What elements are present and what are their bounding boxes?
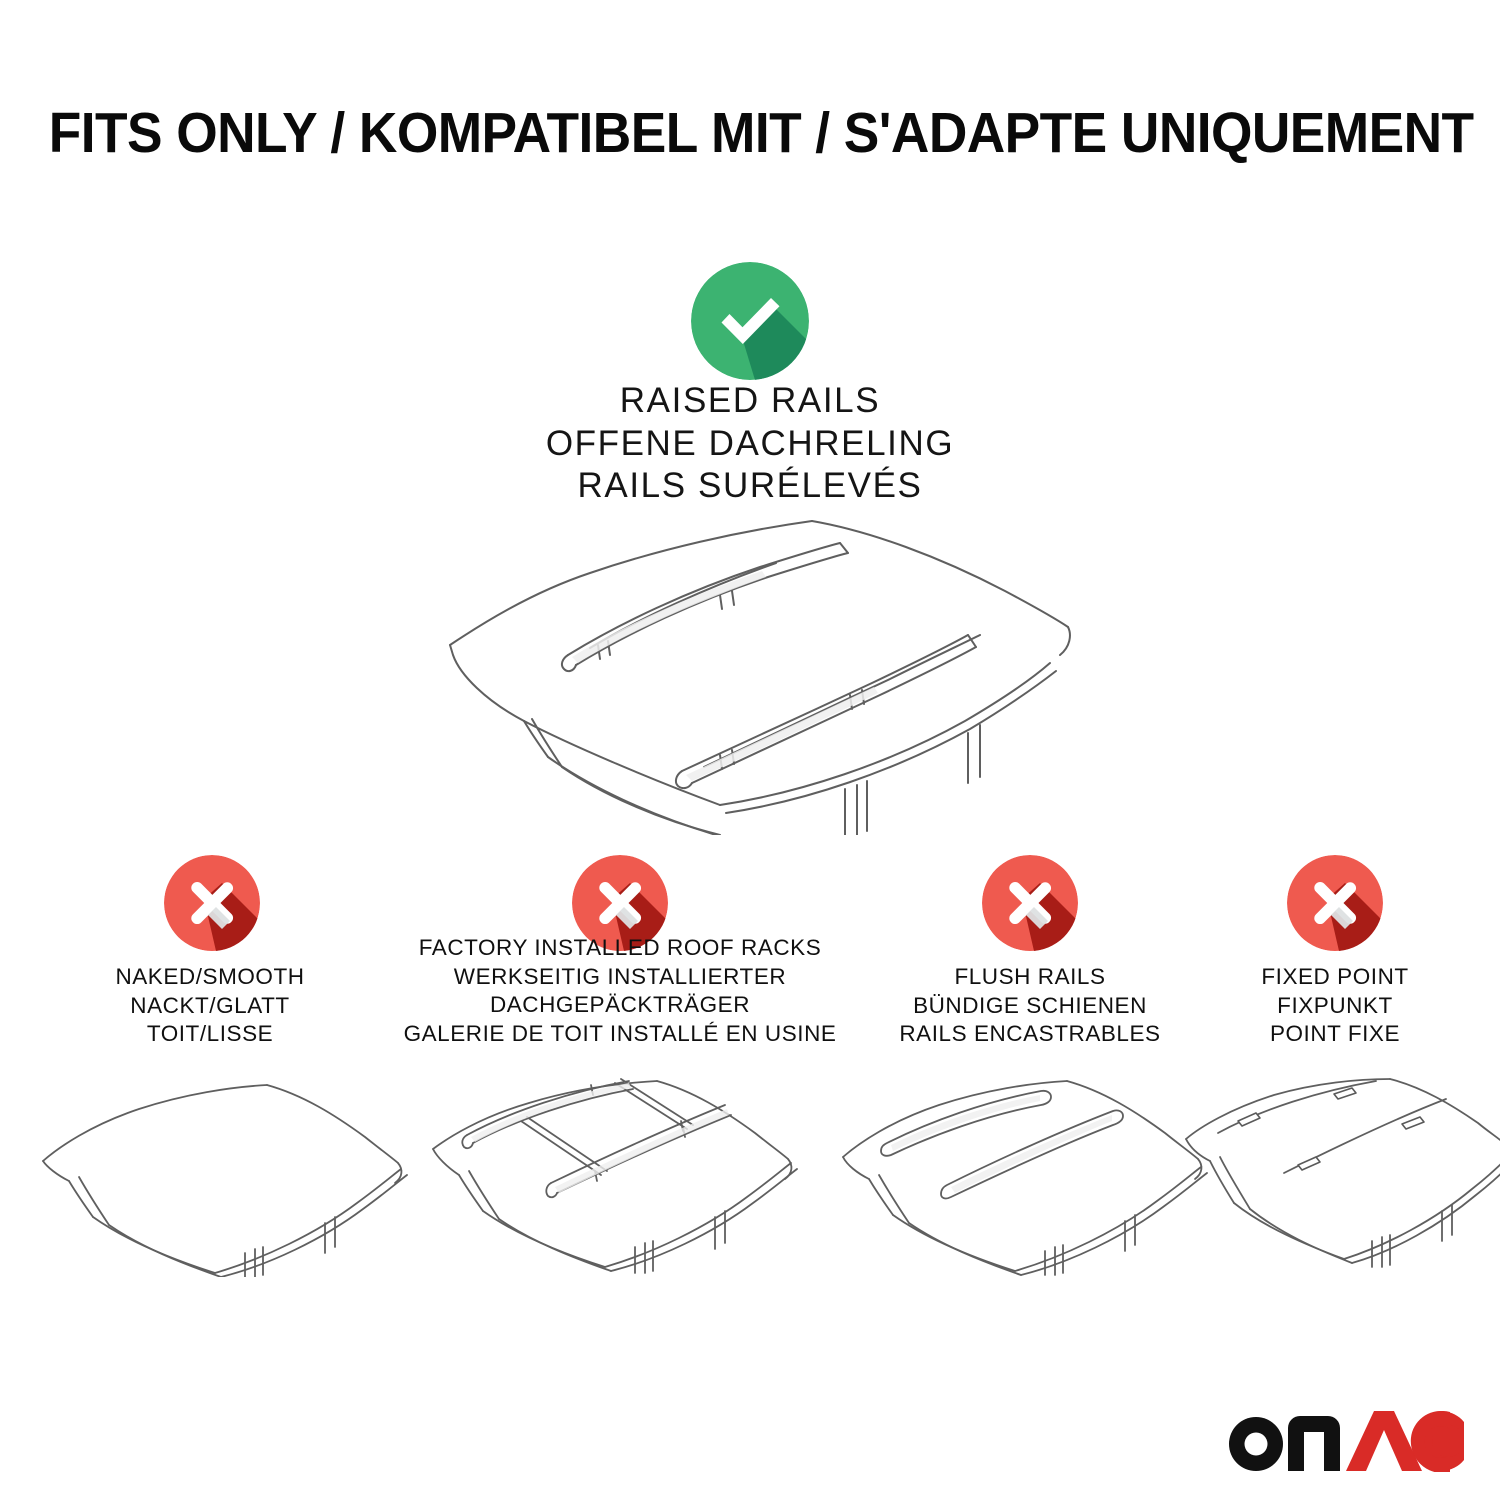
car-roof-raised-rails-illustration [420, 505, 1110, 835]
compatible-label-line-fr: RAILS SURÉLEVÉS [430, 465, 1070, 508]
x-circle-icon [164, 855, 260, 951]
label-line-de: FIXPUNKT [1170, 992, 1500, 1021]
logo-letter-m [1288, 1416, 1340, 1471]
label-line-de-2: DACHGEPÄCKTRÄGER [370, 991, 870, 1020]
compatible-label-line-de: OFFENE DACHRELING [430, 423, 1070, 466]
incompatible-label-fixed-point: FIXED POINT FIXPUNKT POINT FIXE [1170, 963, 1500, 1049]
logo-letter-a [1346, 1411, 1422, 1471]
car-roof-flush-rails-illustration [835, 1077, 1225, 1277]
compatible-label: RAISED RAILS OFFENE DACHRELING RAILS SUR… [430, 380, 1070, 508]
label-line-de-1: WERKSEITIG INSTALLIERTER [370, 963, 870, 992]
omac-logo [1228, 1410, 1464, 1472]
page-title: FITS ONLY / KOMPATIBEL MIT / S'ADAPTE UN… [49, 104, 1452, 164]
car-roof-naked-smooth-illustration [35, 1077, 425, 1277]
label-line-fr: POINT FIXE [1170, 1020, 1500, 1049]
compatible-label-line-en: RAISED RAILS [430, 380, 1070, 423]
label-line-en: FIXED POINT [1170, 963, 1500, 992]
fitment-infographic: FITS ONLY / KOMPATIBEL MIT / S'ADAPTE UN… [0, 0, 1500, 1500]
label-line-en: FACTORY INSTALLED ROOF RACKS [370, 934, 870, 963]
logo-letter-c [1411, 1411, 1464, 1472]
car-roof-fixed-point-illustration [1180, 1077, 1500, 1277]
check-circle-icon [691, 262, 809, 380]
x-circle-icon [1287, 855, 1383, 951]
label-line-fr: GALERIE DE TOIT INSTALLÉ EN USINE [370, 1020, 870, 1049]
incompatible-label-factory-roof-racks: FACTORY INSTALLED ROOF RACKS WERKSEITIG … [370, 934, 870, 1048]
car-roof-factory-roof-racks-illustration [425, 1077, 815, 1277]
logo-letter-o [1229, 1417, 1283, 1471]
x-circle-icon [982, 855, 1078, 951]
